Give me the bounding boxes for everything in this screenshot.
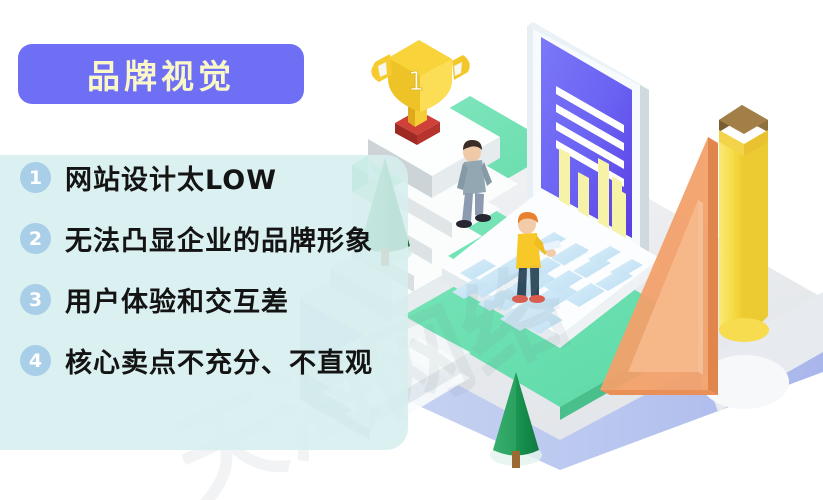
list-item: 1 网站设计太LOW (0, 158, 470, 197)
list-item-label: 用户体验和交互差 (65, 280, 289, 319)
title-badge: 品牌视觉 (18, 44, 304, 104)
list-item-label: 网站设计太LOW (65, 158, 277, 197)
list-item-number: 3 (20, 284, 51, 315)
trophy-number: 1 (408, 67, 425, 97)
list-item-label: 核心卖点不充分、不直观 (65, 341, 373, 380)
pencil (719, 105, 769, 342)
page-title: 品牌视觉 (87, 50, 235, 98)
poster-canvas: 1 (0, 0, 823, 500)
issue-list: 1 网站设计太LOW 2 无法凸显企业的品牌形象 3 用户体验和交互差 4 核心… (0, 158, 470, 402)
list-item-number: 1 (20, 162, 51, 193)
list-item-number: 4 (20, 345, 51, 376)
list-item-label: 无法凸显企业的品牌形象 (65, 219, 373, 258)
list-item: 3 用户体验和交互差 (0, 280, 470, 319)
list-item: 4 核心卖点不充分、不直观 (0, 341, 470, 380)
list-item-number: 2 (20, 223, 51, 254)
list-item: 2 无法凸显企业的品牌形象 (0, 219, 470, 258)
